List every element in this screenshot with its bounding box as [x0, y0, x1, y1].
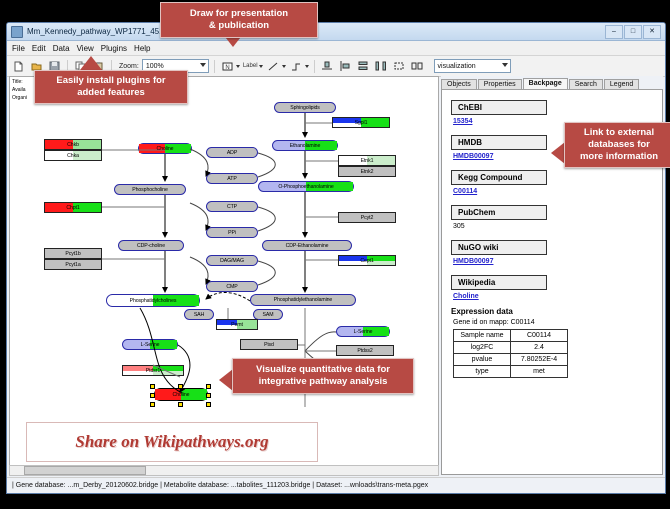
node-label: CTP [227, 204, 237, 210]
selection-handle-bl[interactable] [150, 402, 155, 407]
menu-bar: File Edit Data View Plugins Help [7, 41, 665, 56]
row-label: pvalue [454, 354, 511, 366]
side-panel-tabs: Objects Properties Backpage Search Legen… [441, 76, 663, 90]
section-header-chebi: ChEBI [451, 100, 547, 115]
node-label: CDP-Ethanolamine [286, 243, 329, 249]
status-text: | Gene database: ...m_Derby_20120602.bri… [7, 482, 428, 489]
node-label: Chpt1 [66, 205, 79, 211]
nugo-link[interactable]: HMDB00097 [453, 258, 653, 265]
section-header-kegg: Kegg Compound [451, 170, 547, 185]
expression-data-title: Expression data [451, 307, 653, 316]
align-bottom-icon[interactable] [320, 59, 335, 74]
node-label: Chka [67, 153, 79, 159]
node-label: Pcyt1b [65, 251, 80, 257]
pathway-edges [10, 77, 438, 474]
node-label: Chkb [67, 142, 79, 148]
close-button[interactable]: ✕ [643, 25, 661, 39]
tab-properties[interactable]: Properties [478, 79, 522, 89]
node-label: Etnk2 [361, 169, 374, 175]
pathway-graph: Title: Availa Organi [10, 77, 438, 474]
selection-handle-mr[interactable] [206, 393, 211, 398]
node-label: Cept1 [360, 258, 373, 264]
label-tool[interactable]: Label [243, 63, 263, 69]
node-label: SAM [263, 312, 274, 318]
selection-handle-tl[interactable] [150, 384, 155, 389]
app-icon [11, 26, 23, 38]
expression-table: Sample name C00114 log2FC 2.4 pvalue 7.8… [453, 329, 568, 378]
share-banner: Share on Wikipathways.org [26, 422, 318, 462]
selection-handle-tc[interactable] [178, 384, 183, 389]
row-label: log2FC [454, 342, 511, 354]
visualization-value: visualization [438, 63, 476, 70]
chevron-down-icon[interactable] [305, 65, 309, 68]
row-value: 2.4 [511, 342, 568, 354]
callout-draw-line1: Draw for presentation [165, 8, 313, 20]
pubchem-value: 305 [453, 223, 653, 230]
menu-item-edit[interactable]: Edit [32, 44, 46, 53]
callout-visualize-line1: Visualize quantitative data for [237, 364, 409, 376]
node-label: Ptdss2 [357, 348, 372, 354]
row-value: 7.80252E-4 [511, 354, 568, 366]
selection-handle-tr[interactable] [206, 384, 211, 389]
node-label: DAG/MAG [220, 258, 244, 264]
toolbar-separator [314, 60, 315, 73]
callout-links-arrow [551, 142, 565, 164]
zoom-value: 100% [146, 63, 164, 70]
node-label: Ethanolamine [290, 143, 321, 149]
zoom-label: Zoom: [119, 63, 139, 70]
callout-links-line3: more information [568, 151, 670, 163]
node-label: Pisd [264, 342, 274, 348]
datanode-tool[interactable]: N [220, 59, 240, 74]
screenshot-root: Mm_Kennedy_pathway_WP1771_45176.gpml – □… [0, 0, 670, 509]
node-label: Choline [173, 392, 190, 398]
chevron-down-icon[interactable] [236, 65, 240, 68]
callout-plugins-line1: Easily install plugins for [39, 75, 183, 87]
pathway-canvas[interactable]: Title: Availa Organi [9, 76, 439, 475]
toolbar-separator [214, 60, 215, 73]
callout-visualize-arrow [219, 369, 233, 391]
node-label: L-Serine [141, 342, 160, 348]
table-row: type met [454, 366, 568, 378]
menu-item-plugins[interactable]: Plugins [101, 44, 127, 53]
wikipedia-link[interactable]: Choline [453, 293, 653, 300]
row-value: met [511, 366, 568, 378]
visualization-select[interactable]: visualization [434, 59, 511, 73]
callout-plugins-line2: added features [39, 87, 183, 99]
share-banner-text: Share on Wikipathways.org [75, 432, 268, 452]
table-row: pvalue 7.80252E-4 [454, 354, 568, 366]
section-header-nugo: NuGO wiki [451, 240, 547, 255]
datanode-icon[interactable]: N [220, 59, 235, 74]
table-row: Sample name C00114 [454, 330, 568, 342]
chevron-down-icon [200, 63, 206, 67]
node-label: CMP [226, 284, 237, 290]
node-label: Pcyt1a [65, 262, 80, 268]
node-label: SAH [194, 312, 204, 318]
maximize-button[interactable]: □ [624, 25, 642, 39]
callout-draw: Draw for presentation & publication [160, 2, 318, 38]
label-tool-text: Label [243, 63, 258, 69]
selection-handle-bc[interactable] [178, 402, 183, 407]
node-label: Ptdsr1 [146, 368, 160, 374]
node-label: Phosphatidylcholines [130, 298, 177, 304]
callout-links: Link to external databases for more info… [564, 122, 670, 168]
chevron-down-icon[interactable] [259, 65, 263, 68]
tab-backpage[interactable]: Backpage [523, 78, 568, 89]
node-label: ATP [227, 176, 236, 182]
line-tool[interactable] [266, 59, 286, 74]
node-label: Choline [157, 146, 174, 152]
node-label: Phosphocholine [132, 187, 168, 193]
callout-links-line1: Link to external [568, 127, 670, 139]
callout-draw-line2: & publication [165, 20, 313, 32]
menu-item-help[interactable]: Help [134, 44, 150, 53]
new-file-icon[interactable] [11, 59, 26, 74]
tab-legend[interactable]: Legend [604, 79, 639, 89]
align-left-icon[interactable] [338, 59, 353, 74]
callout-links-line2: databases for [568, 139, 670, 151]
stack-icon[interactable] [356, 59, 371, 74]
callout-plugins-arrow [80, 56, 102, 70]
chevron-down-icon[interactable] [282, 65, 286, 68]
menu-item-data[interactable]: Data [53, 44, 70, 53]
distribute-icon[interactable] [374, 59, 389, 74]
callout-visualize: Visualize quantitative data for integrat… [232, 358, 414, 394]
menu-item-file[interactable]: File [12, 44, 25, 53]
node-label: L-Serine [354, 329, 373, 335]
line-icon[interactable] [266, 59, 281, 74]
node-label: Sgpl1 [355, 120, 368, 126]
node-label: Etnk1 [361, 158, 374, 164]
status-bar: | Gene database: ...m_Derby_20120602.bri… [7, 477, 665, 493]
table-row: log2FC 2.4 [454, 342, 568, 354]
node-label: Pemt [231, 322, 243, 328]
menu-item-view[interactable]: View [77, 44, 94, 53]
node-label: O-Phosphoethanolamine [278, 184, 333, 190]
gene-id-line: Gene id on mapp: C00114 [453, 319, 653, 326]
callout-visualize-line2: integrative pathway analysis [237, 376, 409, 388]
window-controls[interactable]: – □ ✕ [605, 25, 661, 39]
ungroup-icon[interactable] [410, 59, 425, 74]
selection-handle-ml[interactable] [150, 393, 155, 398]
node-label: Sphingolipids [290, 105, 320, 111]
selection-handle-br[interactable] [206, 402, 211, 407]
row-label: Sample name [454, 330, 511, 342]
svg-text:N: N [225, 65, 229, 71]
section-header-hmdb: HMDB [451, 135, 547, 150]
connector-icon[interactable] [289, 59, 304, 74]
row-label: type [454, 366, 511, 378]
section-header-wikipedia: Wikipedia [451, 275, 547, 290]
node-label: ADP [227, 150, 237, 156]
chevron-down-icon [502, 63, 508, 67]
section-header-pubchem: PubChem [451, 205, 547, 220]
node-label: PPi [228, 230, 236, 236]
callout-plugins: Easily install plugins for added feature… [34, 70, 188, 104]
row-value: C00114 [511, 330, 568, 342]
title-bar: Mm_Kennedy_pathway_WP1771_45176.gpml – □… [7, 23, 665, 41]
node-label: CDP-choline [137, 243, 165, 249]
minimize-button[interactable]: – [605, 25, 623, 39]
tab-objects[interactable]: Objects [441, 79, 477, 89]
tab-search[interactable]: Search [569, 79, 603, 89]
node-label: Pcyt2 [361, 215, 373, 221]
group-icon[interactable] [392, 59, 407, 74]
node-label: Phosphatidylethanolamine [274, 297, 332, 303]
connector-tool[interactable] [289, 59, 309, 74]
kegg-link[interactable]: C00114 [453, 188, 653, 195]
